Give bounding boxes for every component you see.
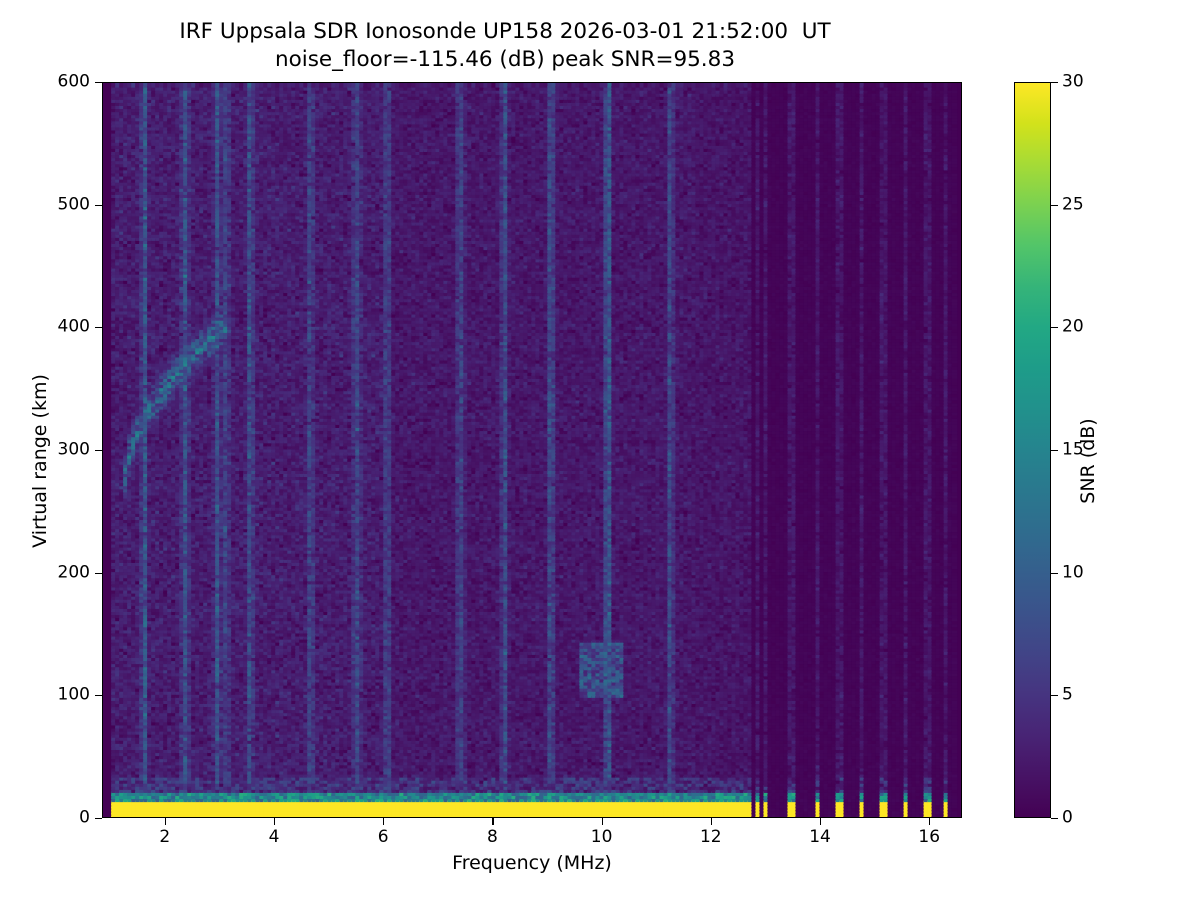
y-axis-label: Virtual range (km) [29,251,51,671]
x-tick-label: 12 [700,829,722,846]
x-tick-label: 10 [591,829,613,846]
x-tick-label: 8 [487,829,498,846]
colorbar-tick-mark [1051,695,1058,696]
x-tick-mark [820,818,821,825]
colorbar-tick-label: 0 [1062,810,1073,827]
ionogram-figure: IRF Uppsala SDR Ionosonde UP158 2026-03-… [0,0,1200,900]
y-tick-mark [95,573,102,574]
y-tick-label: 600 [30,74,90,91]
snr-colorbar [1014,82,1051,818]
x-tick-label: 6 [378,829,389,846]
x-tick-mark [274,818,275,825]
x-tick-mark [711,818,712,825]
x-tick-label: 4 [269,829,280,846]
y-tick-mark [95,205,102,206]
y-tick-mark [95,695,102,696]
colorbar-tick-mark [1051,573,1058,574]
x-tick-label: 16 [918,829,940,846]
x-tick-mark [929,818,930,825]
y-tick-mark [95,450,102,451]
x-tick-mark [165,818,166,825]
title-line-primary: IRF Uppsala SDR Ionosonde UP158 2026-03-… [0,18,1010,46]
y-tick-label: 0 [30,810,90,827]
title-line-secondary: noise_floor=-115.46 (dB) peak SNR=95.83 [0,46,1010,74]
x-tick-label: 14 [809,829,831,846]
y-tick-label: 500 [30,196,90,213]
x-tick-mark [602,818,603,825]
y-axis-ticks: 0100200300400500600 [102,82,962,818]
colorbar-tick-mark [1051,450,1058,451]
y-tick-mark [95,327,102,328]
y-tick-mark [95,818,102,819]
x-axis-label: Frequency (MHz) [102,852,962,874]
y-tick-label: 100 [30,687,90,704]
colorbar-tick-label: 30 [1062,74,1084,91]
colorbar-tick-mark [1051,327,1058,328]
colorbar-tick-label: 5 [1062,687,1073,704]
colorbar-gradient [1015,83,1050,817]
y-tick-mark [95,82,102,83]
figure-title: IRF Uppsala SDR Ionosonde UP158 2026-03-… [0,18,1010,74]
colorbar-label: SNR (dB) [1077,321,1099,601]
colorbar-tick-mark [1051,205,1058,206]
colorbar-tick-mark [1051,82,1058,83]
colorbar-tick-mark [1051,818,1058,819]
colorbar-tick-label: 25 [1062,196,1084,213]
x-tick-label: 2 [159,829,170,846]
x-tick-mark [383,818,384,825]
x-tick-mark [492,818,493,825]
